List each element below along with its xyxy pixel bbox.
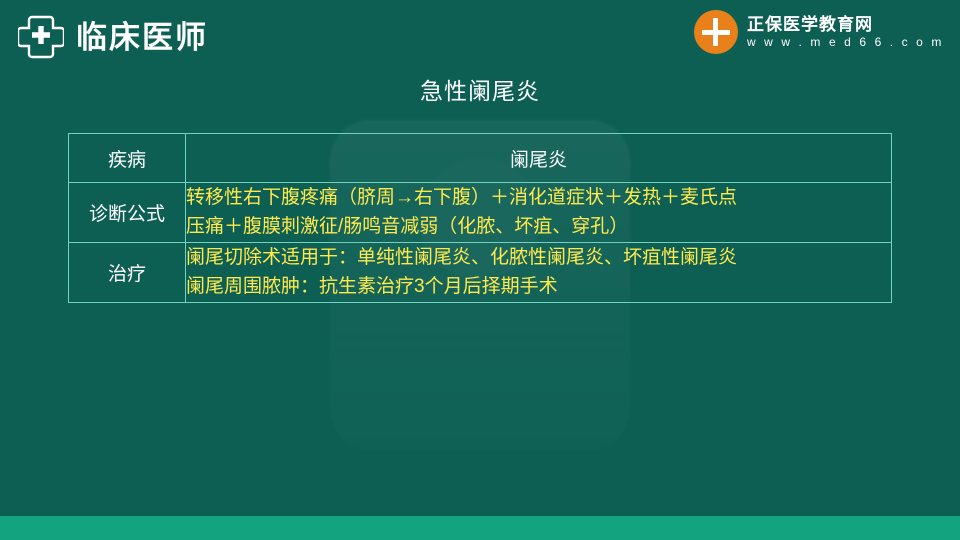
page-title: 急性阑尾炎 — [0, 72, 960, 106]
row-content-diagnosis: 转移性右下腹疼痛（脐周→右下腹）＋消化道症状＋发热＋麦氏点 压痛＋腹膜刺激征/肠… — [186, 183, 892, 243]
row-line: 阑尾周围脓肿：抗生素治疗3个月后择期手术 — [186, 272, 891, 301]
header-left-brand-title: 临床医师 — [76, 22, 208, 53]
orange-cross-logo-icon — [694, 10, 738, 54]
table-header-value: 阑尾炎 — [186, 134, 892, 183]
row-line: 转移性右下腹疼痛（脐周→右下腹）＋消化道症状＋发热＋麦氏点 — [186, 183, 891, 212]
header-left-brand: 临床医师 — [18, 14, 208, 60]
table-row: 治疗 阑尾切除术适用于：单纯性阑尾炎、化脓性阑尾炎、坏疽性阑尾炎 阑尾周围脓肿：… — [69, 242, 892, 302]
header-right-brand-url: w w w . m e d 6 6 . c o m — [747, 36, 944, 48]
table-header-label: 疾病 — [69, 134, 186, 183]
content-table: 疾病 阑尾炎 诊断公式 转移性右下腹疼痛（脐周→右下腹）＋消化道症状＋发热＋麦氏… — [68, 133, 892, 303]
row-label-diagnosis: 诊断公式 — [69, 183, 186, 243]
header-right-brand: 正保医学教育网 w w w . m e d 6 6 . c o m — [694, 10, 944, 54]
header-right-brand-text: 正保医学教育网 w w w . m e d 6 6 . c o m — [747, 16, 944, 48]
row-label-treatment: 治疗 — [69, 242, 186, 302]
table-header-row: 疾病 阑尾炎 — [69, 134, 892, 183]
medical-cross-icon — [18, 14, 64, 60]
row-line: 压痛＋腹膜刺激征/肠鸣音减弱（化脓、坏疽、穿孔） — [186, 212, 891, 241]
slide: 临床医师 正保医学教育网 w w w . m e d 6 6 . c o m 急… — [0, 0, 960, 540]
header-right-brand-name: 正保医学教育网 — [747, 16, 873, 33]
row-line: 阑尾切除术适用于：单纯性阑尾炎、化脓性阑尾炎、坏疽性阑尾炎 — [186, 243, 891, 272]
footer-strip — [0, 516, 960, 540]
row-content-treatment: 阑尾切除术适用于：单纯性阑尾炎、化脓性阑尾炎、坏疽性阑尾炎 阑尾周围脓肿：抗生素… — [186, 242, 892, 302]
table-row: 诊断公式 转移性右下腹疼痛（脐周→右下腹）＋消化道症状＋发热＋麦氏点 压痛＋腹膜… — [69, 183, 892, 243]
